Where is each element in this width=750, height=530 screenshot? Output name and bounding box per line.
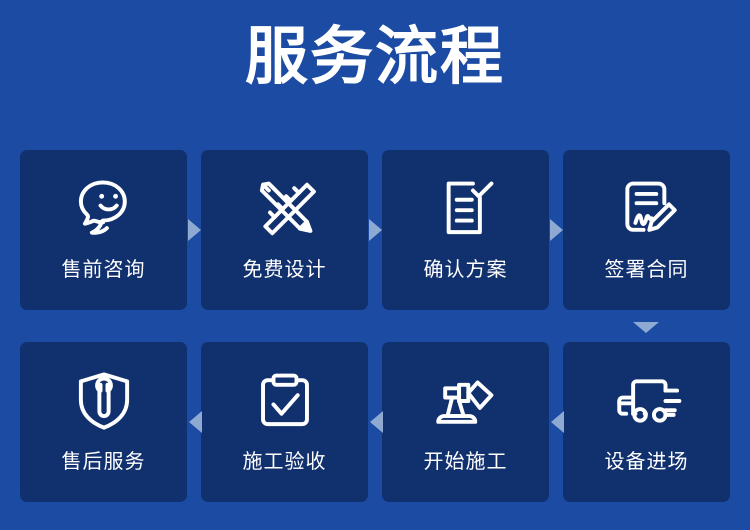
arrow-row1-to-row2-icon xyxy=(633,322,659,333)
shield-wrench-icon xyxy=(67,364,141,438)
step-card-construction-acceptance[interactable]: 施工验收 xyxy=(201,342,368,502)
step-card-equipment-arrival[interactable]: 设备进场 xyxy=(563,342,730,502)
phone-smiley-icon xyxy=(67,172,141,246)
arrow-row1-1-icon xyxy=(188,219,201,241)
clipboard-check-plan-icon xyxy=(429,172,503,246)
step-label: 售前咨询 xyxy=(62,258,146,282)
step-label: 签署合同 xyxy=(605,258,689,282)
step-card-after-sales-service[interactable]: 售后服务 xyxy=(20,342,187,502)
step-label: 开始施工 xyxy=(424,450,508,474)
step-card-start-construction[interactable]: 开始施工 xyxy=(382,342,549,502)
page-title: 服务流程 xyxy=(0,22,750,93)
excavator-icon xyxy=(429,364,503,438)
contract-signature-pen-icon xyxy=(610,172,684,246)
step-label: 设备进场 xyxy=(605,450,689,474)
step-card-confirm-plan[interactable]: 确认方案 xyxy=(382,150,549,310)
arrow-row1-2-icon xyxy=(369,219,382,241)
process-steps-grid: 售前咨询 免费设计 xyxy=(20,150,730,502)
step-label: 免费设计 xyxy=(243,258,327,282)
arrow-row1-3-icon xyxy=(550,219,563,241)
step-label: 施工验收 xyxy=(243,450,327,474)
clipboard-approved-icon xyxy=(248,364,322,438)
arrow-row2-2-icon xyxy=(370,411,383,433)
pencil-ruler-icon xyxy=(248,172,322,246)
step-label: 售后服务 xyxy=(62,450,146,474)
service-process-poster: 服务流程 售前咨询 xyxy=(0,0,750,530)
step-card-free-design[interactable]: 免费设计 xyxy=(201,150,368,310)
step-label: 确认方案 xyxy=(424,258,508,282)
step-card-pre-sales-consultation[interactable]: 售前咨询 xyxy=(20,150,187,310)
arrow-row2-1-icon xyxy=(189,411,202,433)
arrow-row2-3-icon xyxy=(551,411,564,433)
delivery-truck-icon xyxy=(610,364,684,438)
step-card-sign-contract[interactable]: 签署合同 xyxy=(563,150,730,310)
